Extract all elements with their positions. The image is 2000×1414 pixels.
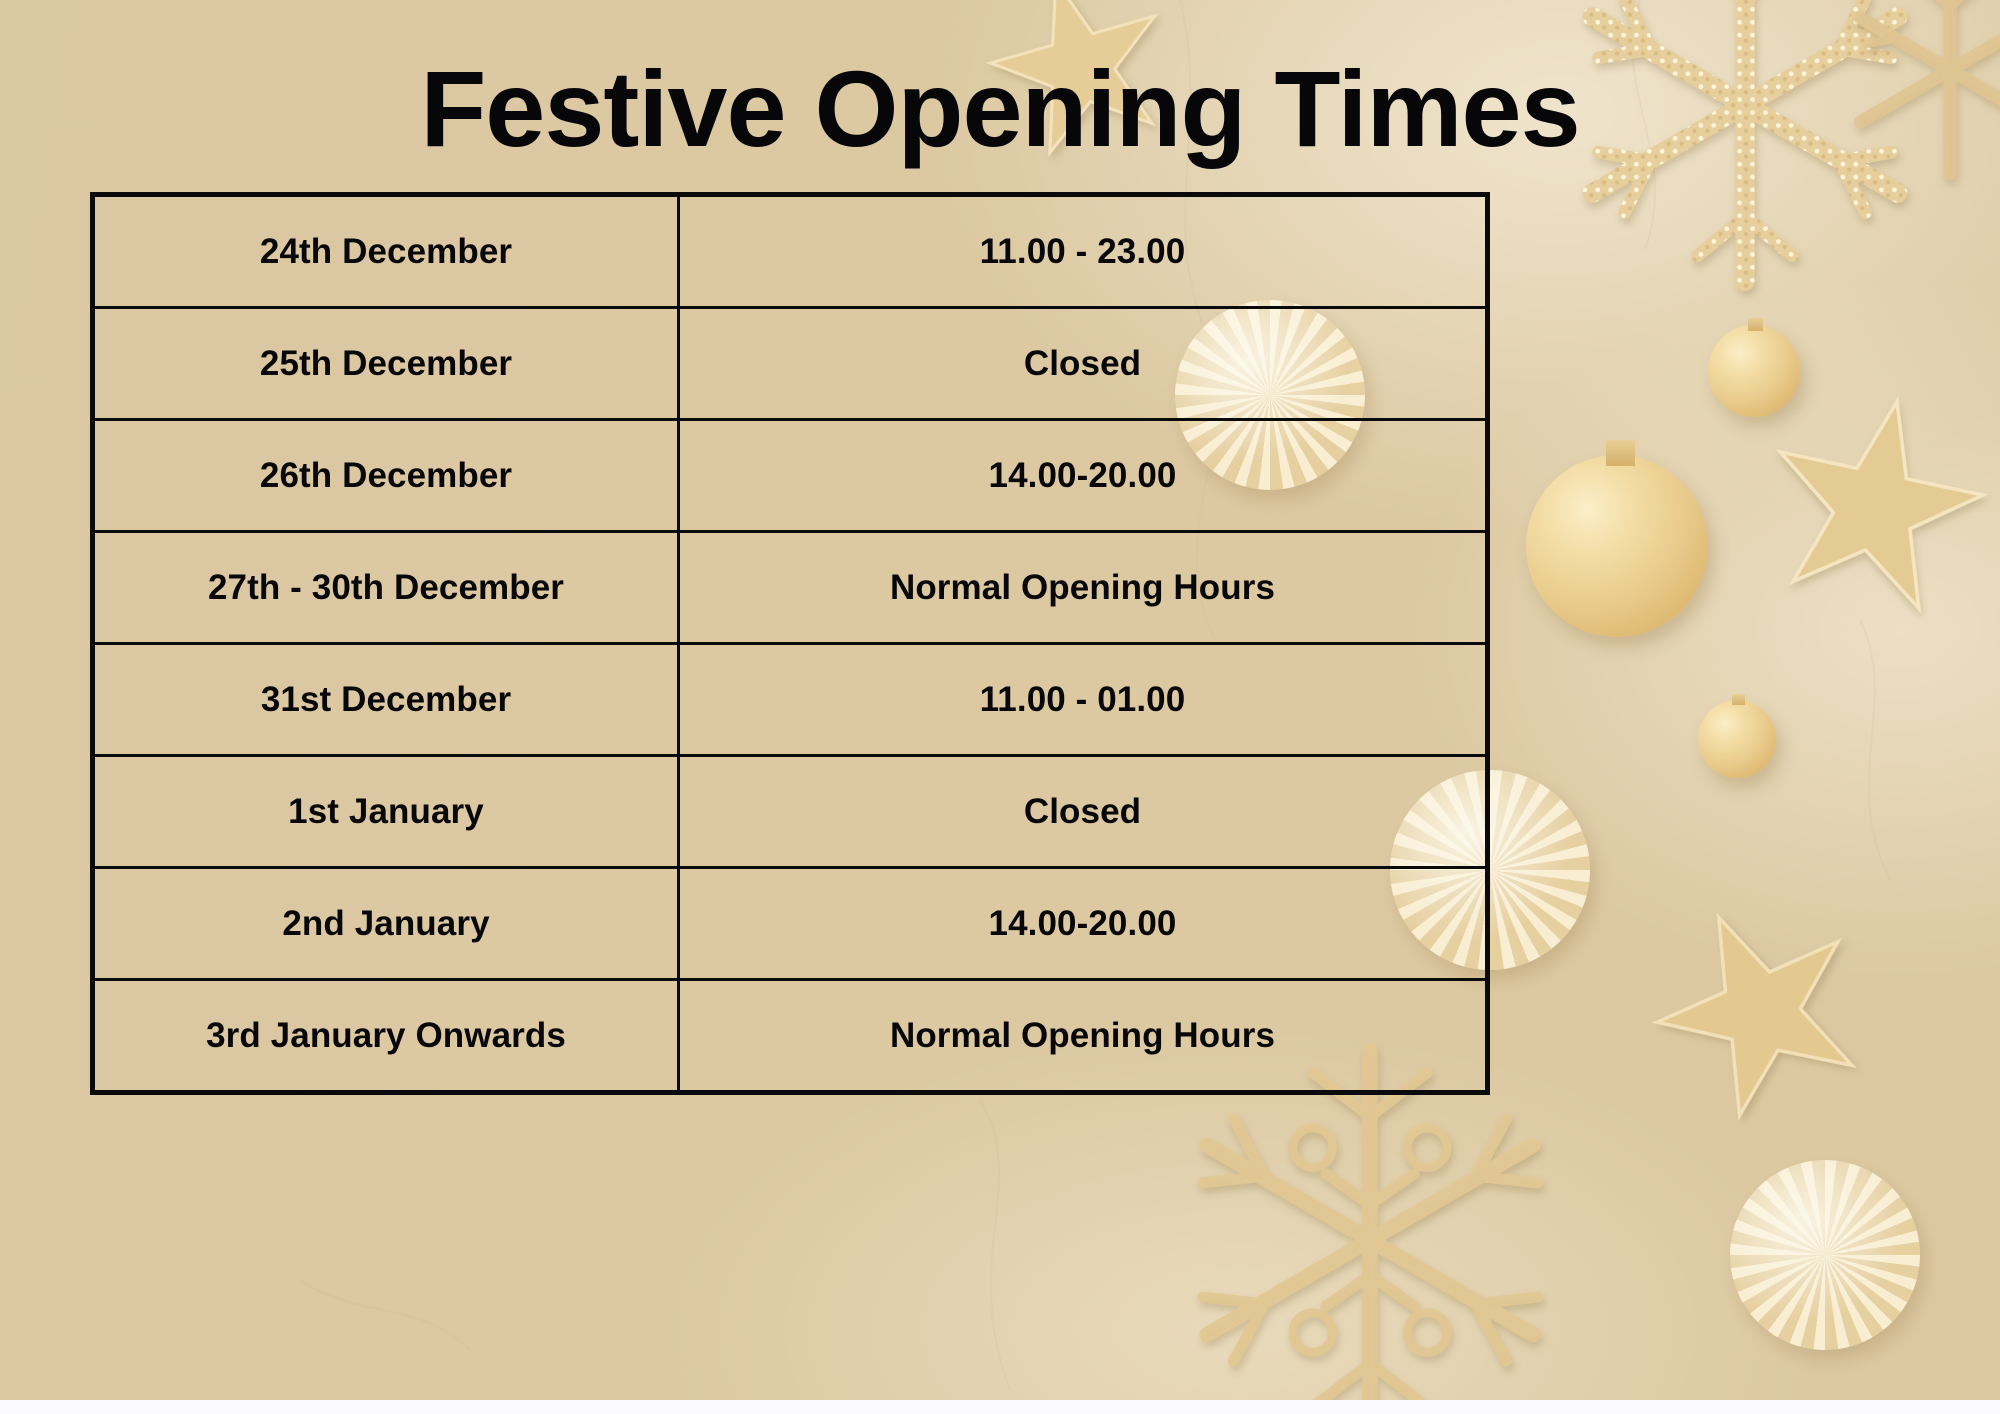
row-hours: Normal Opening Hours: [679, 532, 1488, 644]
row-date: 25th December: [93, 308, 679, 420]
row-hours: 11.00 - 23.00: [679, 195, 1488, 308]
row-hours: 14.00-20.00: [679, 420, 1488, 532]
row-date: 2nd January: [93, 868, 679, 980]
table-row: 31st December 11.00 - 01.00: [93, 644, 1488, 756]
row-date: 24th December: [93, 195, 679, 308]
opening-times-table: 24th December 11.00 - 23.00 25th Decembe…: [90, 192, 1490, 1095]
row-date: 1st January: [93, 756, 679, 868]
row-hours: Closed: [679, 756, 1488, 868]
glitter-star-lower-right: [1615, 865, 1905, 1155]
table-row: 3rd January Onwards Normal Opening Hours: [93, 980, 1488, 1093]
row-date: 26th December: [93, 420, 679, 532]
table-row: 27th - 30th December Normal Opening Hour…: [93, 532, 1488, 644]
glitter-star-right: [1739, 369, 2000, 642]
gold-bauble-tiny: [1698, 700, 1776, 778]
row-hours: 14.00-20.00: [679, 868, 1488, 980]
swirl-ornament-lower-right: [1730, 1160, 1920, 1350]
table-row: 2nd January 14.00-20.00: [93, 868, 1488, 980]
table-body: 24th December 11.00 - 23.00 25th Decembe…: [93, 195, 1488, 1093]
row-date: 27th - 30th December: [93, 532, 679, 644]
gold-bauble-large: [1526, 455, 1708, 637]
page-title: Festive Opening Times: [0, 52, 2000, 165]
table-row: 25th December Closed: [93, 308, 1488, 420]
table-row: 26th December 14.00-20.00: [93, 420, 1488, 532]
table-row: 1st January Closed: [93, 756, 1488, 868]
page-bottom-strip: [0, 1400, 2000, 1414]
gold-bauble-small: [1708, 325, 1800, 417]
row-hours: Normal Opening Hours: [679, 980, 1488, 1093]
row-hours: Closed: [679, 308, 1488, 420]
row-date: 31st December: [93, 644, 679, 756]
row-hours: 11.00 - 01.00: [679, 644, 1488, 756]
row-date: 3rd January Onwards: [93, 980, 679, 1093]
festive-opening-times-poster: Festive Opening Times 24th December 11.0…: [0, 0, 2000, 1400]
table-row: 24th December 11.00 - 23.00: [93, 195, 1488, 308]
